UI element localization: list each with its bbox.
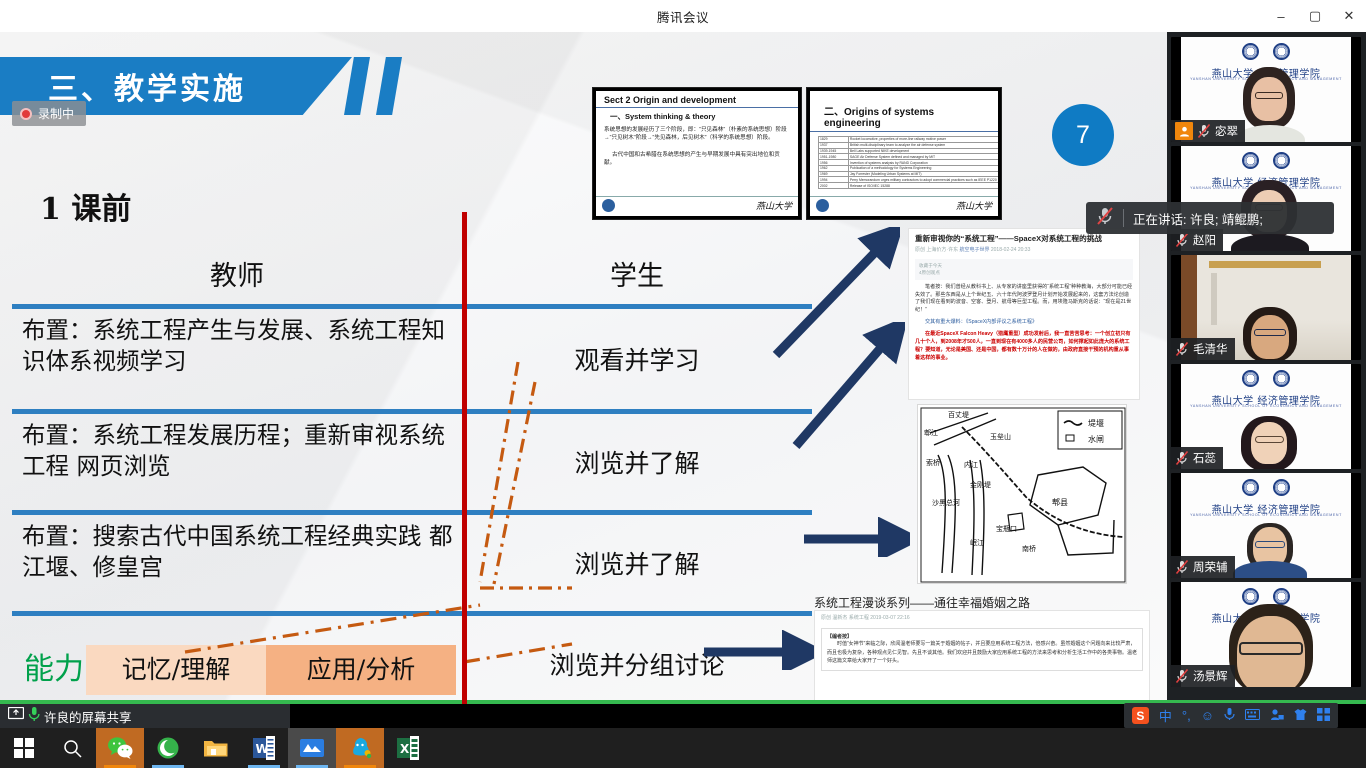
close-button[interactable]: ✕	[1332, 0, 1366, 32]
word-icon[interactable]: W	[240, 728, 288, 768]
apps-icon[interactable]	[1317, 708, 1330, 724]
teacher-task: 布置：系统工程发展历程；重新审视系统工程 网页浏览	[12, 414, 462, 510]
thumbnail-1-school: 燕山大学	[756, 199, 792, 212]
record-dot-icon	[20, 108, 32, 120]
share-owner-label: 许良的屏幕共享	[44, 707, 132, 726]
svg-text:南桥: 南桥	[1022, 544, 1036, 553]
table-row: 布置：搜索古代中国系统工程经典实践 都江堰、修皇宫 浏览并了解	[12, 515, 812, 611]
user-icon[interactable]	[1270, 708, 1284, 724]
svg-text:水闸: 水闸	[1088, 434, 1104, 444]
virtual-bg-pinyin: YANSHAN UNIVERSITY SCHOOL OF ECONOMICS A…	[1190, 513, 1342, 517]
article-1-para-1: 笔者按：我们曾经从教科书上、从专家的讲座里获得的“系统工程”种种教海，大部分可能…	[909, 282, 1139, 318]
article-1-source: 航空电子世界	[959, 247, 989, 253]
window-controls: – ▢ ✕	[1264, 0, 1366, 32]
window-title: 腾讯会议	[657, 7, 709, 26]
participant-namebar: 毛清华	[1171, 338, 1235, 360]
article-2-para: 时值“女神节”来临之际，欣闻温老师要写一篇关于婚姻的帖子，并且要应用系统工程方法…	[827, 640, 1137, 666]
emoji-icon[interactable]: ☺	[1201, 708, 1214, 723]
article-2-date: 2019-03-07 22:16	[870, 615, 909, 621]
participant-name: 毛清华	[1193, 341, 1228, 357]
thumbnail-1-subtitle: 一、System thinking & theory	[596, 108, 798, 124]
university-seal-icon	[1242, 152, 1290, 169]
participant-namebar: 周荣辅	[1171, 556, 1235, 578]
participant-namebar: 汤景辉	[1171, 665, 1235, 687]
participant-name: 宓翠	[1215, 123, 1238, 139]
teacher-task: 布置：搜索古代中国系统工程经典实践 都江堰、修皇宫	[12, 515, 462, 611]
mic-icon[interactable]	[28, 706, 40, 727]
article-1-chip-1: 收藏于今天	[919, 262, 1129, 269]
svg-text:百丈堤: 百丈堤	[948, 410, 969, 419]
start-icon[interactable]	[0, 728, 48, 768]
article-1-chip: 收藏于今天 4原创观点	[915, 259, 1133, 280]
participant-namebar: 宓翠	[1171, 120, 1245, 142]
mic-muted-icon	[1175, 450, 1189, 466]
university-seal-icon	[1242, 370, 1290, 387]
article-2-meta: 原创 温新杰 系统工程 2019-03-07 22:16	[815, 611, 1149, 623]
svg-text:内江: 内江	[964, 460, 978, 469]
map-drawing: 堤堰 水闸 百丈堤 郫江 玉垒山 索桥 内江 金刚堤 沙黑总河 岷江 宝瓶口 郫…	[918, 405, 1128, 585]
year-cell: 2002	[819, 183, 849, 189]
participant-tile[interactable]: 燕山大学 经济管理学院 YANSHAN UNIVERSITY SCHOOL OF…	[1171, 364, 1361, 469]
svg-text:索桥: 索桥	[926, 458, 940, 467]
dashed-connector-lines	[460, 352, 580, 612]
sogou-logo-icon[interactable]: S	[1132, 707, 1149, 724]
article-1-screenshot: 重新审视你的“系统工程”——SpaceX对系统工程的挑战 原创 上海价方·许东 …	[908, 228, 1140, 400]
speaking-toast: 正在讲话: 许良; 靖鲲鹏;	[1086, 202, 1334, 234]
search-icon[interactable]	[48, 728, 96, 768]
virtual-bg-pinyin: YANSHAN UNIVERSITY SCHOOL OF ECONOMICS A…	[1190, 404, 1342, 408]
university-seal-icon	[816, 199, 829, 212]
thumbnail-2-title: 二、Origins of systems engineering	[810, 99, 998, 132]
article-1-date: 2018-02-24 20:33	[991, 247, 1030, 253]
svg-text:玉垒山: 玉垒山	[990, 432, 1011, 441]
windows-taskbar[interactable]: W X	[0, 728, 1366, 768]
shared-screen[interactable]: 三、教学实施 录制中 1 课前 教师 学生	[0, 32, 1167, 704]
article-2-headline: 系统工程漫谈系列——通往幸福婚姻之路	[814, 594, 1144, 611]
article-2-origin: 原创	[821, 615, 831, 621]
article-1-origin: 原创	[915, 247, 925, 253]
ime-punctuation-icon[interactable]: °,	[1182, 708, 1191, 723]
article-2-screenshot: 原创 温新杰 系统工程 2019-03-07 22:16 【编者按】 时值“女神…	[814, 610, 1150, 704]
screen-share-bar[interactable]: 许良的屏幕共享	[0, 704, 290, 728]
minimize-button[interactable]: –	[1264, 0, 1298, 32]
article-1-para-2: 交其有重大爆料：《SpaceX内部评议之系统工程》	[909, 317, 1139, 329]
article-2-body: 【编者按】 时值“女神节”来临之际，欣闻温老师要写一篇关于婚姻的帖子，并且要应用…	[821, 628, 1143, 671]
slide-thumbnail-1[interactable]: Sect 2 Origin and development 一、System t…	[592, 87, 802, 220]
article-2-author: 温新杰	[832, 615, 847, 621]
meeting-stage: 三、教学实施 录制中 1 课前 教师 学生	[0, 32, 1366, 704]
skin-icon[interactable]	[1294, 708, 1307, 724]
ime-language-icon[interactable]: 中	[1159, 706, 1172, 725]
host-badge-icon	[1175, 122, 1193, 140]
article-1-para-3: 在最近SpaceX Falcon Heavy（猎鹰重型）成功发射后，我一直苦苦思…	[909, 329, 1139, 365]
share-screen-icon	[8, 707, 24, 726]
university-seal-icon	[1242, 43, 1290, 60]
participant-strip[interactable]: 燕山大学 经济管理学院 YANSHAN UNIVERSITY SCHOOL OF…	[1167, 32, 1366, 704]
article-1-meta: 原创 上海价方·许东 航空电子世界 2018-02-24 20:33	[909, 246, 1139, 257]
participant-tile[interactable]: 毛清华	[1171, 255, 1361, 360]
thumbnail-2-table: 1829Rocket locomotive, properties of mor…	[818, 136, 998, 189]
svg-text:X: X	[400, 742, 410, 756]
browser-360-icon[interactable]	[144, 728, 192, 768]
mic-icon[interactable]	[1224, 707, 1235, 724]
table-row: 布置：系统工程发展历程；重新审视系统工程 网页浏览 浏览并了解	[12, 414, 812, 510]
teacher-task: 布置：系统工程产生与发展、系统工程知识体系视频学习	[12, 309, 462, 409]
participant-tile[interactable]: 燕山大学 经济管理学院 YANSHAN UNIVERSITY SCHOOL OF…	[1171, 473, 1361, 578]
mic-muted-icon	[1175, 559, 1189, 575]
table-row: 2002Release of ISO/IEC 15288	[819, 183, 999, 189]
participant-tile[interactable]: 燕山大学 经济管理学院 汤景辉	[1171, 582, 1361, 687]
article-2-lead: 【编者按】	[827, 633, 1137, 640]
participant-name: 石蕊	[1193, 450, 1216, 466]
svg-text:宝瓶口: 宝瓶口	[996, 524, 1017, 533]
slide-thumbnail-2[interactable]: 二、Origins of systems engineering 1829Roc…	[806, 87, 1002, 220]
window-titlebar: 腾讯会议 – ▢ ✕	[0, 0, 1366, 32]
mic-muted-icon	[1175, 341, 1189, 357]
svg-text:郫县: 郫县	[1052, 497, 1068, 507]
dashed-connector-lines-2	[100, 600, 500, 670]
svg-text:沙黑总河: 沙黑总河	[932, 498, 960, 507]
svg-text:岷江: 岷江	[970, 538, 984, 547]
mic-muted-icon	[1096, 206, 1114, 231]
thumbnail-1-footer: 燕山大学	[596, 196, 798, 214]
article-1-chip-2: 4原创观点	[919, 269, 1129, 276]
university-seal-icon	[1242, 479, 1290, 496]
table-header-row: 教师 学生	[12, 242, 812, 304]
speaking-text: 正在讲话: 许良; 靖鲲鹏;	[1133, 209, 1263, 228]
thumbnail-1-body: 系统思想的发展经历了三个阶段，即：“只见森林”（朴素的系统思想）阶段→“只见树木…	[596, 124, 798, 145]
participant-name: 周荣辅	[1193, 559, 1228, 575]
app-root: 腾讯会议 – ▢ ✕ 三、教学实施 录制中 1 课前	[0, 0, 1366, 768]
table-row: 布置：系统工程产生与发展、系统工程知识体系视频学习 观看并学习	[12, 309, 812, 409]
thumbnail-1-title: Sect 2 Origin and development	[596, 91, 798, 108]
mic-muted-icon	[1175, 232, 1189, 248]
slide-page-number: 7	[1052, 104, 1114, 166]
thumbnail-2-school: 燕山大学	[956, 199, 992, 212]
arrow-to-map	[800, 517, 910, 557]
svg-text:堤堰: 堤堰	[1088, 418, 1104, 428]
dujiangyan-map: 堤堰 水闸 百丈堤 郫江 玉垒山 索桥 内江 金刚堤 沙黑总河 岷江 宝瓶口 郫…	[917, 404, 1127, 584]
maximize-button[interactable]: ▢	[1298, 0, 1332, 32]
participant-tile[interactable]: 燕山大学 经济管理学院 YANSHAN UNIVERSITY SCHOOL OF…	[1171, 146, 1361, 251]
arrow-to-article-3	[700, 630, 815, 670]
article-1-author: 上海价方·许东	[926, 247, 958, 253]
recording-badge: 录制中	[12, 101, 86, 126]
university-seal-icon	[602, 199, 615, 212]
wechat-icon[interactable]	[96, 728, 144, 768]
article-2-source: 系统工程	[849, 615, 869, 621]
excel-icon[interactable]: X	[384, 728, 432, 768]
keyboard-icon[interactable]	[1245, 708, 1260, 723]
svg-text:金刚堤: 金刚堤	[970, 480, 991, 489]
qq-icon[interactable]	[336, 728, 384, 768]
meeting-icon[interactable]	[288, 728, 336, 768]
dashed-connector-lines-3	[462, 632, 582, 682]
column-header-teacher: 教师	[12, 242, 462, 304]
svg-text:郫江: 郫江	[924, 428, 938, 437]
file-explorer-icon[interactable]	[192, 728, 240, 768]
thumbnail-1-body2: 古代中国和古希腊在系统思想的产生与早期发展中具有突出地位和贡献。	[596, 149, 798, 170]
slide-subtitle: 1 课前	[40, 184, 131, 228]
mic-muted-icon	[1175, 668, 1189, 684]
arrow-to-article-2	[790, 322, 905, 452]
recording-label: 录制中	[38, 105, 74, 122]
event-cell: Release of ISO/IEC 15288	[848, 183, 998, 189]
ability-label: 能力	[22, 654, 86, 686]
column-divider-red	[462, 212, 467, 704]
participant-namebar: 石蕊	[1171, 447, 1223, 469]
thumbnail-2-footer: 燕山大学	[810, 196, 998, 214]
participant-tile[interactable]: 燕山大学 经济管理学院 YANSHAN UNIVERSITY SCHOOL OF…	[1171, 37, 1361, 142]
participant-name: 汤景辉	[1193, 668, 1228, 684]
slide-subtitle-text: 课前	[71, 192, 131, 227]
sogou-ime-toolbar[interactable]: S 中 °, ☺	[1124, 703, 1338, 728]
participant-name: 赵阳	[1193, 232, 1216, 248]
university-seal-icon	[1242, 588, 1290, 605]
column-header-student: 学生	[462, 242, 812, 304]
mic-muted-icon	[1197, 123, 1211, 139]
slide-subtitle-number: 1	[40, 192, 61, 227]
